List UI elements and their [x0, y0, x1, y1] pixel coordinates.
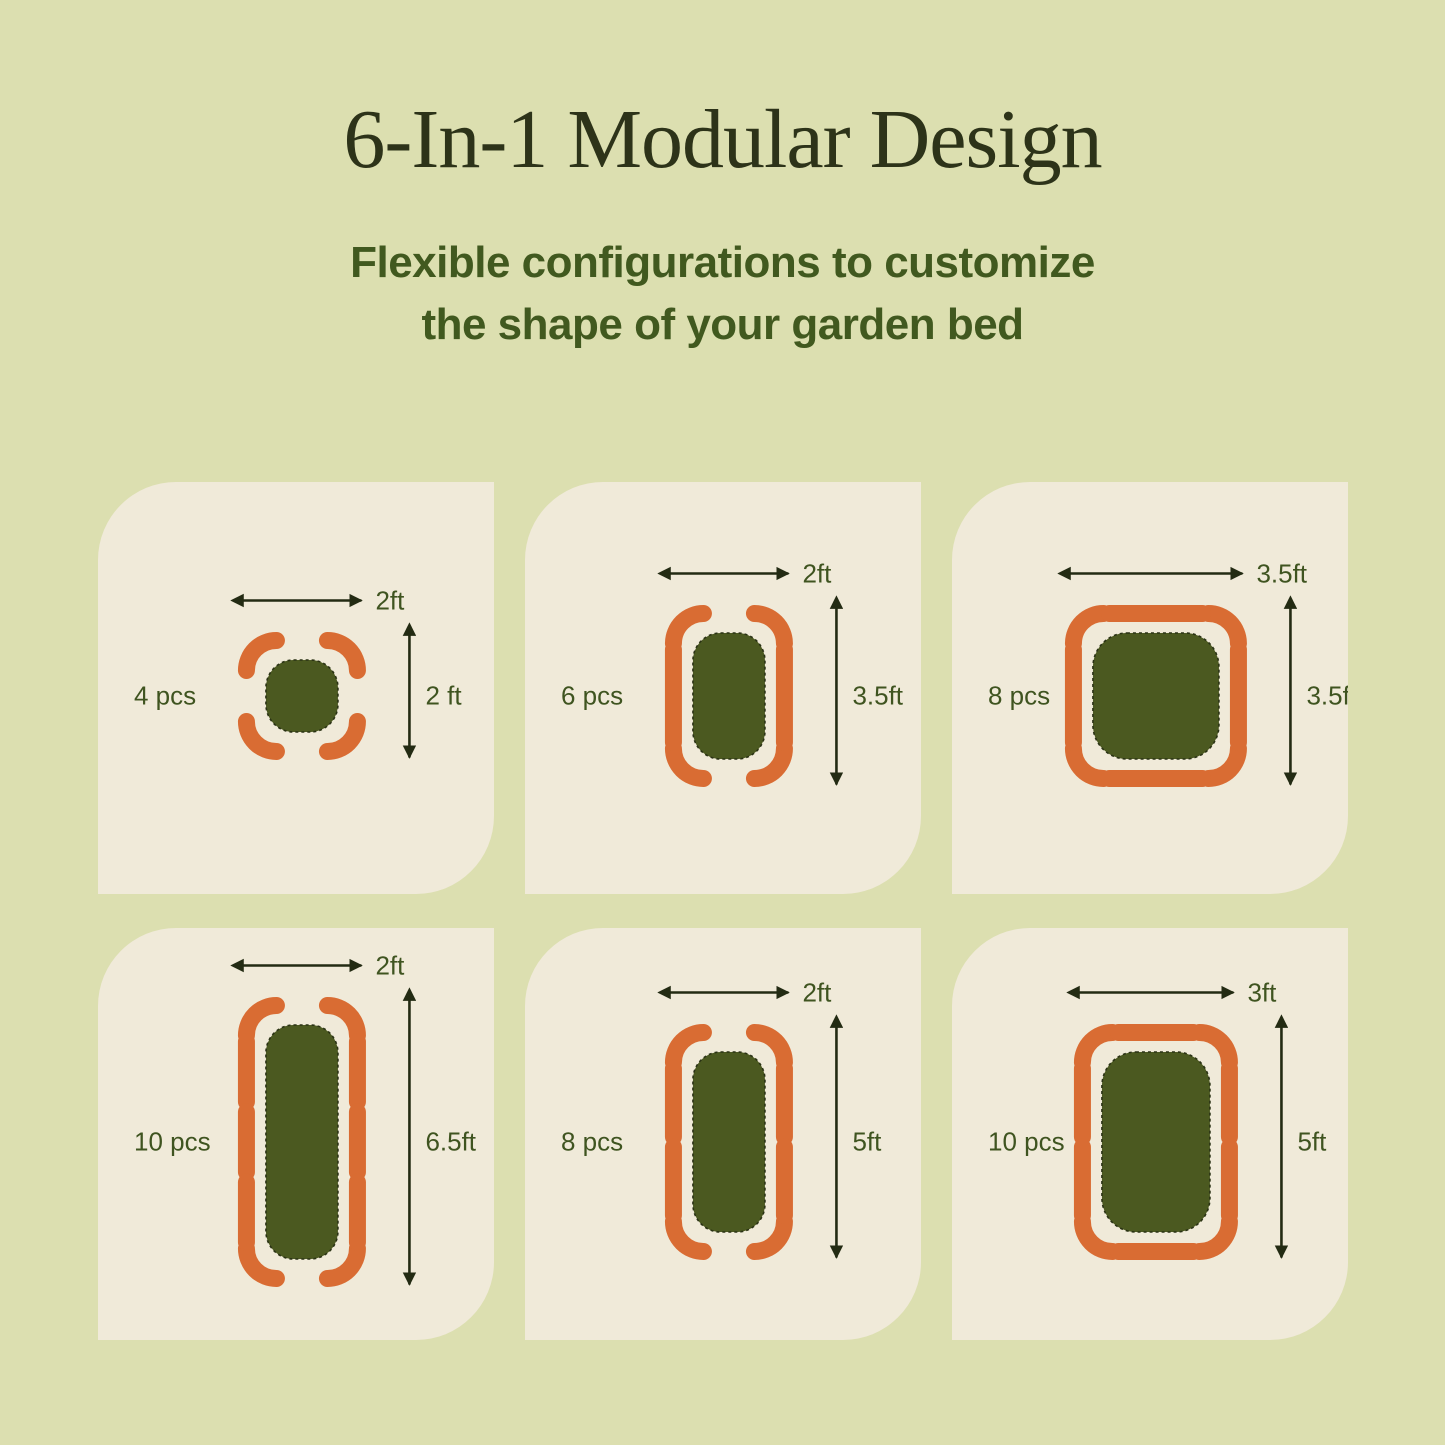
corner-panel-top-right[interactable]	[327, 641, 357, 671]
width-dimension-label: 3ft	[1247, 977, 1276, 1008]
corner-panel-bottom-right[interactable]	[754, 1222, 784, 1252]
pieces-count-label: 10 pcs	[988, 1127, 1065, 1158]
config-card[interactable]: 4 pcs2ft2 ft	[98, 482, 494, 894]
corner-panel-bottom-left[interactable]	[246, 1249, 276, 1279]
pieces-count-label: 6 pcs	[561, 681, 623, 712]
corner-panel-top-right[interactable]	[1199, 1033, 1229, 1063]
corner-panel-bottom-left[interactable]	[673, 749, 703, 779]
corner-panel-top-right[interactable]	[1208, 614, 1238, 644]
config-card-inner: 6 pcs2ft3.5ft	[525, 482, 921, 894]
config-card-inner: 8 pcs2ft5ft	[525, 928, 921, 1340]
pieces-count-label: 8 pcs	[988, 681, 1050, 712]
soil-area	[1102, 1052, 1210, 1232]
soil-area	[1093, 633, 1219, 759]
subtitle-line-1: Flexible configurations to customize	[0, 232, 1445, 294]
config-card[interactable]: 6 pcs2ft3.5ft	[525, 482, 921, 894]
soil-area	[693, 1052, 765, 1232]
corner-panel-bottom-left[interactable]	[1073, 749, 1103, 779]
config-card-inner: 8 pcs3.5ft3.5ft	[952, 482, 1348, 894]
width-dimension-label: 2ft	[802, 977, 831, 1008]
height-dimension-label: 2 ft	[425, 681, 461, 712]
corner-panel-bottom-right[interactable]	[754, 749, 784, 779]
corner-panel-bottom-left[interactable]	[673, 1222, 703, 1252]
width-dimension-label: 2ft	[375, 585, 404, 616]
corner-panel-top-left[interactable]	[1073, 614, 1103, 644]
pieces-count-label: 4 pcs	[134, 681, 196, 712]
modular-design-infographic: 6-In-1 Modular Design Flexible configura…	[0, 0, 1445, 1445]
corner-panel-top-right[interactable]	[327, 1006, 357, 1036]
config-card-inner: 4 pcs2ft2 ft	[98, 482, 494, 894]
header: 6-In-1 Modular Design Flexible configura…	[0, 92, 1445, 356]
corner-panel-top-right[interactable]	[754, 614, 784, 644]
config-card[interactable]: 10 pcs3ft5ft	[952, 928, 1348, 1340]
soil-area	[266, 1025, 338, 1259]
height-dimension-label: 3.5ft	[852, 681, 903, 712]
config-card-inner: 10 pcs2ft6.5ft	[98, 928, 494, 1340]
corner-panel-top-right[interactable]	[754, 1033, 784, 1063]
corner-panel-bottom-right[interactable]	[1208, 749, 1238, 779]
corner-panel-bottom-right[interactable]	[327, 722, 357, 752]
soil-area	[266, 660, 338, 732]
corner-panel-top-left[interactable]	[673, 1033, 703, 1063]
page-subtitle: Flexible configurations to customize the…	[0, 188, 1445, 356]
config-card[interactable]: 10 pcs2ft6.5ft	[98, 928, 494, 1340]
soil-area	[693, 633, 765, 759]
pieces-count-label: 10 pcs	[134, 1127, 211, 1158]
subtitle-line-2: the shape of your garden bed	[0, 294, 1445, 356]
corner-panel-top-left[interactable]	[246, 641, 276, 671]
page-title: 6-In-1 Modular Design	[0, 92, 1445, 188]
corner-panel-bottom-right[interactable]	[1199, 1222, 1229, 1252]
corner-panel-bottom-left[interactable]	[246, 722, 276, 752]
config-card[interactable]: 8 pcs3.5ft3.5ft	[952, 482, 1348, 894]
height-dimension-label: 5ft	[852, 1127, 881, 1158]
corner-panel-top-left[interactable]	[246, 1006, 276, 1036]
corner-panel-bottom-left[interactable]	[1082, 1222, 1112, 1252]
height-dimension-label: 6.5ft	[425, 1127, 476, 1158]
height-dimension-label: 5ft	[1297, 1127, 1326, 1158]
corner-panel-top-left[interactable]	[673, 614, 703, 644]
pieces-count-label: 8 pcs	[561, 1127, 623, 1158]
width-dimension-label: 2ft	[375, 950, 404, 981]
corner-panel-bottom-right[interactable]	[327, 1249, 357, 1279]
width-dimension-label: 3.5ft	[1256, 558, 1307, 589]
height-dimension-label: 3.5ft	[1306, 681, 1348, 712]
config-card[interactable]: 8 pcs2ft5ft	[525, 928, 921, 1340]
width-dimension-label: 2ft	[802, 558, 831, 589]
configuration-grid: 4 pcs2ft2 ft6 pcs2ft3.5ft8 pcs3.5ft3.5ft…	[98, 482, 1348, 1340]
corner-panel-top-left[interactable]	[1082, 1033, 1112, 1063]
config-card-inner: 10 pcs3ft5ft	[952, 928, 1348, 1340]
